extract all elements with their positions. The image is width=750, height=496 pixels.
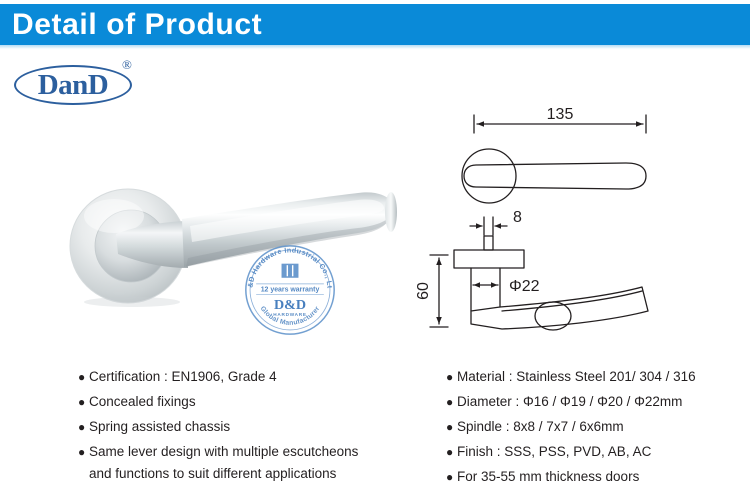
spec-list-left: ● Certification : EN1906, Grade 4 ● Conc… <box>78 366 408 488</box>
bullet-icon: ● <box>446 391 457 413</box>
spec-item: ● Concealed fixings <box>78 391 408 413</box>
spec-text: Spring assisted chassis <box>89 416 408 438</box>
dimension-label-8: 8 <box>513 209 522 226</box>
spec-text: Certification : EN1906, Grade 4 <box>89 366 408 388</box>
spec-item: ● Material : Stainless Steel 201/ 304 / … <box>446 366 746 388</box>
bullet-icon: ● <box>446 416 457 438</box>
spec-text: For 35-55 mm thickness doors <box>457 466 746 488</box>
brand-name: DanD <box>14 65 132 105</box>
spec-item: ● Spindle : 8x8 / 7x7 / 6x6mm <box>446 416 746 438</box>
dimension-label-60: 60 <box>415 282 432 300</box>
spec-item: ● Same lever design with multiple escutc… <box>78 441 408 485</box>
spec-text: Material : Stainless Steel 201/ 304 / 31… <box>457 366 746 388</box>
spec-text: Finish : SSS, PSS, PVD, AB, AC <box>457 441 746 463</box>
spec-text: Concealed fixings <box>89 391 408 413</box>
spec-item: ● Finish : SSS, PSS, PVD, AB, AC <box>446 441 746 463</box>
product-photo <box>58 150 408 350</box>
dimension-label-phi22: Φ22 <box>509 278 540 295</box>
spec-list-right: ● Material : Stainless Steel 201/ 304 / … <box>446 366 746 491</box>
header-shadow <box>0 45 750 49</box>
spec-text: Same lever design with multiple escutche… <box>89 441 408 463</box>
bullet-icon: ● <box>446 466 457 488</box>
page-header-bar: Detail of Product <box>0 4 750 45</box>
brand-logo: DanD ® <box>14 57 149 107</box>
spec-item: ● Diameter : Φ16 / Φ19 / Φ20 / Φ22mm <box>446 391 746 413</box>
registered-trademark-icon: ® <box>122 57 132 73</box>
page-title: Detail of Product <box>12 8 262 42</box>
dimension-label-135: 135 <box>547 106 574 123</box>
spec-text: Diameter : Φ16 / Φ19 / Φ20 / Φ22mm <box>457 391 746 413</box>
bullet-icon: ● <box>78 366 89 388</box>
spec-text: Spindle : 8x8 / 7x7 / 6x6mm <box>457 416 746 438</box>
bullet-icon: ● <box>446 441 457 463</box>
spec-item: ● Certification : EN1906, Grade 4 <box>78 366 408 388</box>
spec-item: ● Spring assisted chassis <box>78 416 408 438</box>
bullet-icon: ● <box>78 416 89 438</box>
bullet-icon: ● <box>446 366 457 388</box>
spec-text-continuation: and functions to suit different applicat… <box>89 463 408 485</box>
spec-item: ● For 35-55 mm thickness doors <box>446 466 746 488</box>
bullet-icon: ● <box>78 441 89 463</box>
technical-drawings: 135 8 Φ22 60 <box>410 95 750 360</box>
bullet-icon: ● <box>78 391 89 413</box>
